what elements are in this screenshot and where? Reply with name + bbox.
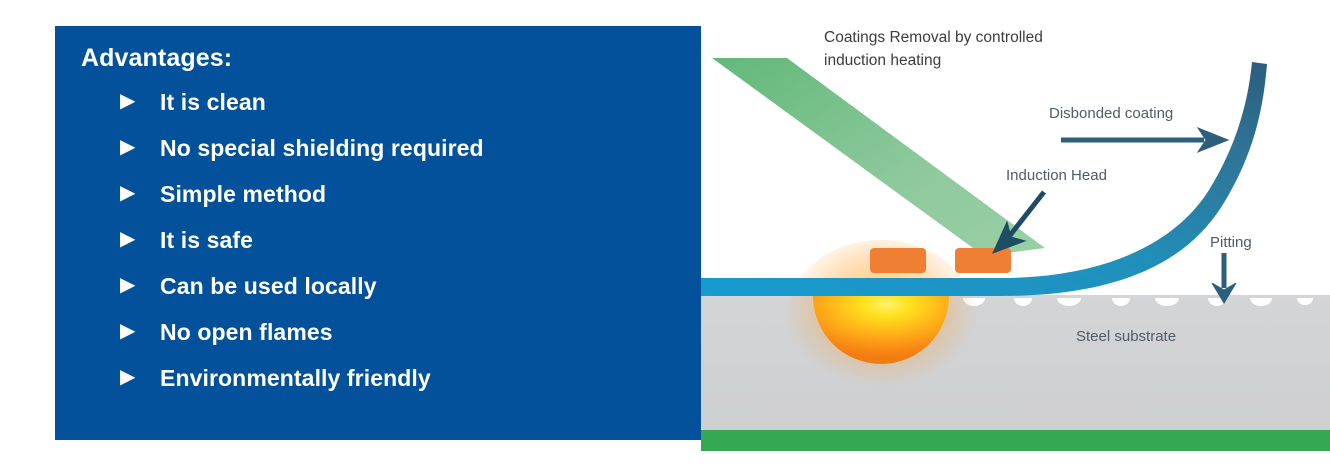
induction-heating-diagram: Coatings Removal by controlled induction… (701, 0, 1330, 466)
triangle-right-bullet-icon: ▶ (120, 275, 160, 295)
triangle-right-bullet-icon: ▶ (120, 183, 160, 203)
list-item: ▶ No special shielding required (55, 125, 701, 171)
list-item: ▶ Environmentally friendly (55, 355, 701, 401)
green-beam-shape (712, 58, 1045, 256)
triangle-right-bullet-icon: ▶ (120, 321, 160, 341)
label-disbonded-coating: Disbonded coating (1049, 103, 1173, 126)
label-induction-head: Induction Head (1006, 165, 1107, 188)
advantages-title: Advantages: (81, 44, 701, 73)
list-item: ▶ No open flames (55, 309, 701, 355)
list-item-label: No special shielding required (160, 135, 484, 162)
list-item-label: It is safe (160, 227, 253, 254)
label-steel-substrate: Steel substrate (1076, 326, 1176, 349)
list-item-label: Simple method (160, 181, 326, 208)
triangle-right-bullet-icon: ▶ (120, 91, 160, 111)
list-item-label: No open flames (160, 319, 333, 346)
list-item-label: Can be used locally (160, 273, 377, 300)
green-base-strip (701, 430, 1330, 451)
arrow-right-icon (1061, 128, 1228, 152)
list-item: ▶ Can be used locally (55, 263, 701, 309)
triangle-right-bullet-icon: ▶ (120, 137, 160, 157)
advantages-list: ▶ It is clean ▶ No special shielding req… (55, 79, 701, 401)
list-item-label: It is clean (160, 89, 266, 116)
list-item: ▶ It is safe (55, 217, 701, 263)
list-item: ▶ It is clean (55, 79, 701, 125)
triangle-right-bullet-icon: ▶ (120, 367, 160, 387)
triangle-right-bullet-icon: ▶ (120, 229, 160, 249)
list-item-label: Environmentally friendly (160, 365, 431, 392)
list-item: ▶ Simple method (55, 171, 701, 217)
advantages-panel: Advantages: ▶ It is clean ▶ No special s… (55, 26, 701, 440)
diagram-title: Coatings Removal by controlled induction… (824, 26, 1054, 73)
label-pitting: Pitting (1210, 232, 1252, 255)
